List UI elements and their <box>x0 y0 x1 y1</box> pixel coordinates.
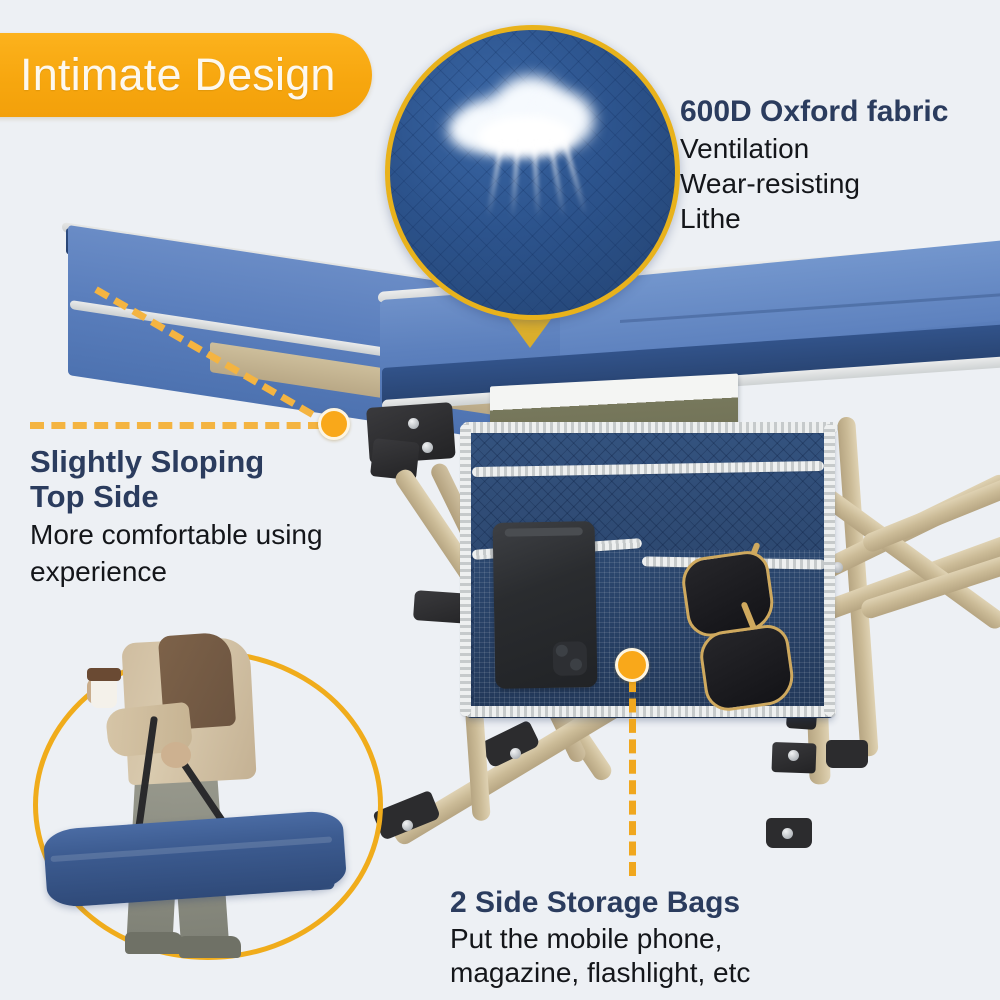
callout-dot-slope <box>318 408 350 440</box>
title-banner: Intimate Design <box>0 33 372 117</box>
rivet-right-leg <box>788 750 799 761</box>
callout-text-fabric: 600D Oxford fabric Ventilation Wear-resi… <box>680 95 1000 235</box>
callout-line-slope-horizontal <box>30 422 322 429</box>
rivet-left-top <box>408 418 419 429</box>
fabric-heading: 600D Oxford fabric <box>680 95 1000 129</box>
fabric-line-2: Wear-resisting <box>680 168 1000 199</box>
bag-trim-left-edge <box>460 424 471 716</box>
carry-bag-photo-inset <box>33 620 393 990</box>
slope-sub-line-1: More comfortable using <box>30 519 430 550</box>
bag-trim-top <box>462 422 838 433</box>
storage-sub-line-2: magazine, flashlight, etc <box>450 957 920 988</box>
oxford-fabric-closeup-inset <box>385 25 680 320</box>
fabric-line-3: Lithe <box>680 203 1000 234</box>
person-shoe-left <box>125 932 183 954</box>
callout-text-slope: Slightly Sloping Top Side More comfortab… <box>30 445 430 587</box>
rivet-foot-left-rear <box>510 748 521 759</box>
rivet-foot-left <box>402 820 413 831</box>
infographic-canvas: 600D Oxford fabric Ventilation Wear-resi… <box>0 0 1000 1000</box>
foot-cap-right-rear <box>826 740 868 768</box>
callout-dot-storage <box>615 648 649 682</box>
carry-bag <box>43 810 348 909</box>
coffee-cup-lid <box>87 668 121 681</box>
phone-camera <box>553 641 588 676</box>
person-shoe-right <box>179 936 241 958</box>
cloud-breathability-icon <box>448 72 598 150</box>
storage-heading: 2 Side Storage Bags <box>450 886 920 920</box>
mobile-phone-in-pocket <box>493 521 598 689</box>
side-storage-bag <box>466 380 834 720</box>
bag-trim-right-edge <box>824 424 835 716</box>
slope-heading-line-1: Slightly Sloping <box>30 445 430 480</box>
crossbar-far-right-a <box>860 469 1000 554</box>
slope-sub-line-2: experience <box>30 556 430 587</box>
callout-text-storage: 2 Side Storage Bags Put the mobile phone… <box>450 886 920 988</box>
fabric-line-1: Ventilation <box>680 133 1000 164</box>
person-hand-holding-bag <box>161 742 191 768</box>
slope-heading-line-2: Top Side <box>30 480 430 515</box>
airflow-rays-icon <box>494 140 570 224</box>
storage-sub-line-1: Put the mobile phone, <box>450 923 920 954</box>
rivet-foot-right <box>782 828 793 839</box>
sunglasses-in-pocket <box>678 550 808 708</box>
page-title: Intimate Design <box>20 49 336 101</box>
sunglasses-lens-lower <box>697 622 797 714</box>
callout-line-storage-vertical <box>629 678 636 876</box>
